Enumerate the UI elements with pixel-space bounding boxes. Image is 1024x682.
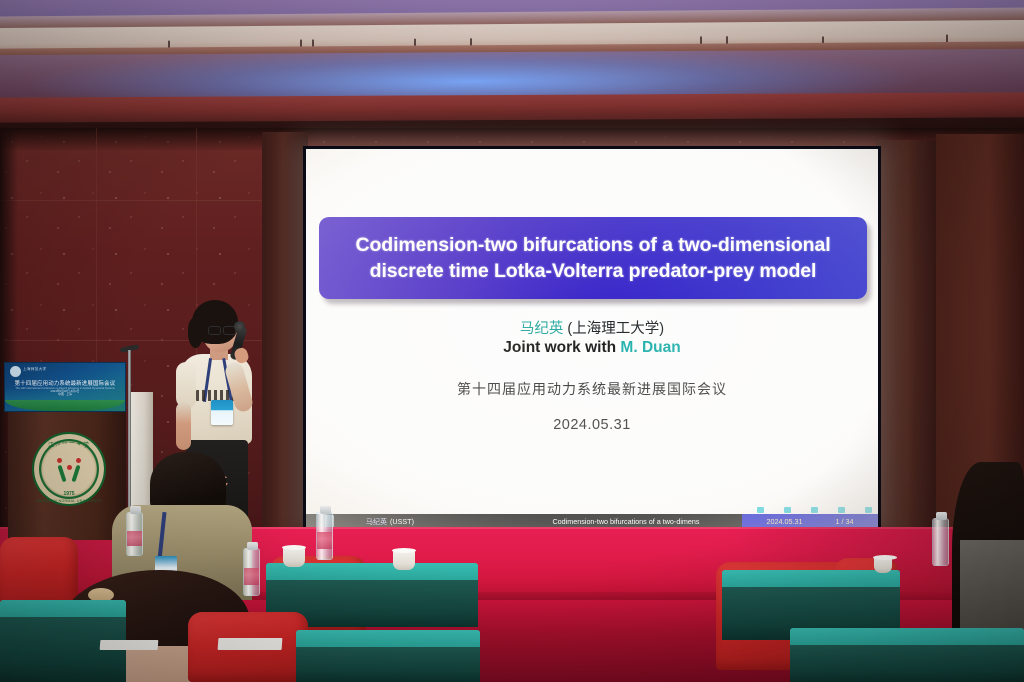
eyeglasses-icon [208,326,236,333]
wall-column-right [876,140,938,530]
water-bottle-icon [316,512,333,560]
coauthor-name: M. Duan [620,339,680,356]
wall-column-left [262,132,308,532]
projection-screen: Codimension-two bifurcations of a two-di… [306,149,878,529]
seal-dot [57,458,62,463]
conference-badge [211,400,233,425]
slide-title-box: Codimension-two bifurcations of a two-di… [319,217,867,299]
table-surface [0,600,126,618]
conference-photo-scene: Codimension-two bifurcations of a two-di… [0,0,1024,682]
bottle-label [244,568,259,585]
author-name: 马纪英 [520,321,564,337]
footline-date: 2024.05.31 [767,517,803,526]
seal-name-en: JIANGHAN NORMAL UNIVERSITY [37,499,102,503]
banner-title: 第十四届应用动力系统最新进展国际会议 [5,379,125,387]
bottle-cap [247,542,258,550]
paper-cup-icon [874,557,892,573]
water-bottle-icon [126,512,143,556]
slide-joint-work-line: Joint work with M. Duan [306,339,878,357]
nav-dot[interactable] [865,507,872,513]
nav-dot[interactable] [838,507,845,513]
bottle-cap [936,512,947,520]
slide-author-line: 马纪英 (上海理工大学) [306,317,878,338]
bottle-cap [130,506,141,514]
table-surface [722,570,900,588]
footline-page-number: 1 / 34 [836,517,854,526]
bottle-label [127,531,142,546]
seal-glyph [56,456,82,482]
table-surface [296,630,480,648]
document-sheet [100,640,159,650]
slide-title: Codimension-two bifurcations of a two-di… [345,232,840,284]
bottle-cap [320,506,331,514]
document-sheet [218,638,283,650]
seal-inner-disc [43,443,95,495]
seal-dot [76,458,81,463]
audience-table [790,628,1024,682]
presenter-left-arm [176,402,191,450]
seal-year: 1975 [63,491,74,497]
banner-date: 2024年5月30日-6月2日 中国 · 上海 [51,390,80,397]
banner-org-logo-icon [10,366,21,377]
table-skirt [790,645,1024,682]
water-bottle-icon [932,518,949,566]
seal-dot [67,465,72,470]
paper-cup-icon [393,550,415,570]
presenter-hair [192,300,238,344]
beamer-nav-dots[interactable] [757,507,872,513]
slide-title-line1: Codimension-two bifurcations of a two-di… [355,234,830,256]
nav-dot[interactable] [757,507,764,513]
bottle-label [317,532,332,549]
footline-author-affiliation: (USST) [390,517,414,526]
slide-date: 2024.05.31 [306,417,878,433]
water-bottle-icon [243,548,260,596]
audience-table [296,630,480,682]
slide-conference-name: 第十四届应用动力系统最新进展国际会议 [306,379,878,399]
paper-cup-icon [283,547,305,567]
nav-dot[interactable] [784,507,791,513]
presenter-sleeve [176,362,196,408]
joint-work-prefix: Joint work with [503,339,616,356]
slide-title-line2: discrete time Lotka-Volterra predator-pr… [355,258,830,284]
banner-green-footer [5,400,125,411]
nav-dot[interactable] [811,507,818,513]
banner-org-name: 上海师范大学 [23,367,46,372]
university-seal-icon: 江汉师范大学 1975 JIANGHAN NORMAL UNIVERSITY [32,432,106,506]
author-affiliation: (上海理工大学) [567,321,664,337]
table-skirt [296,647,480,682]
footline-author-name: 马纪英 [366,517,387,527]
banner-place-cn: 中国 · 上海 [51,393,80,397]
table-surface [790,628,1024,646]
lectern-conference-banner: 上海师范大学 第十四届应用动力系统最新进展国际会议 The 14th Inter… [4,362,126,412]
